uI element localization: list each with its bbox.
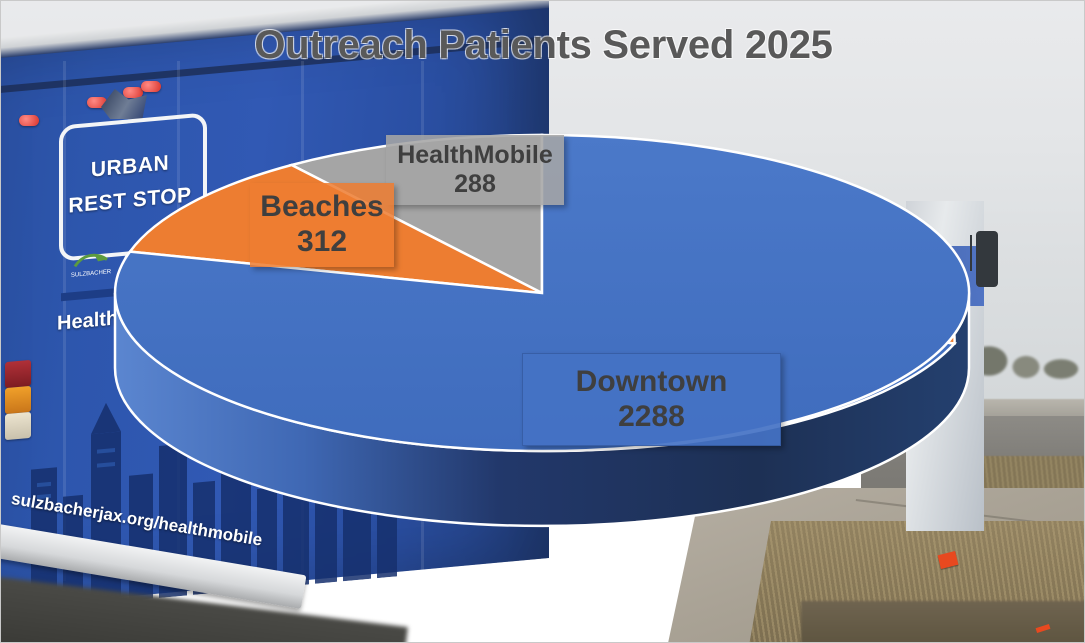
data-label-downtown-name: Downtown [576, 365, 728, 400]
data-label-healthmobile-value: 288 [454, 170, 496, 199]
chart-title: Outreach Patients Served 2025 [1, 23, 1085, 68]
data-label-beaches-name: Beaches [260, 190, 383, 225]
data-label-downtown[interactable]: Downtown 2288 [522, 353, 781, 446]
data-label-healthmobile[interactable]: HealthMobile 288 [386, 135, 564, 205]
data-label-beaches[interactable]: Beaches 312 [250, 183, 394, 267]
data-label-beaches-value: 312 [297, 225, 347, 260]
data-label-downtown-value: 2288 [618, 400, 685, 435]
pie-chart-faces [1, 1, 1085, 643]
data-label-healthmobile-name: HealthMobile [397, 141, 553, 170]
chart-image: URBAN REST STOP SULZBACHER Health M [0, 0, 1085, 643]
